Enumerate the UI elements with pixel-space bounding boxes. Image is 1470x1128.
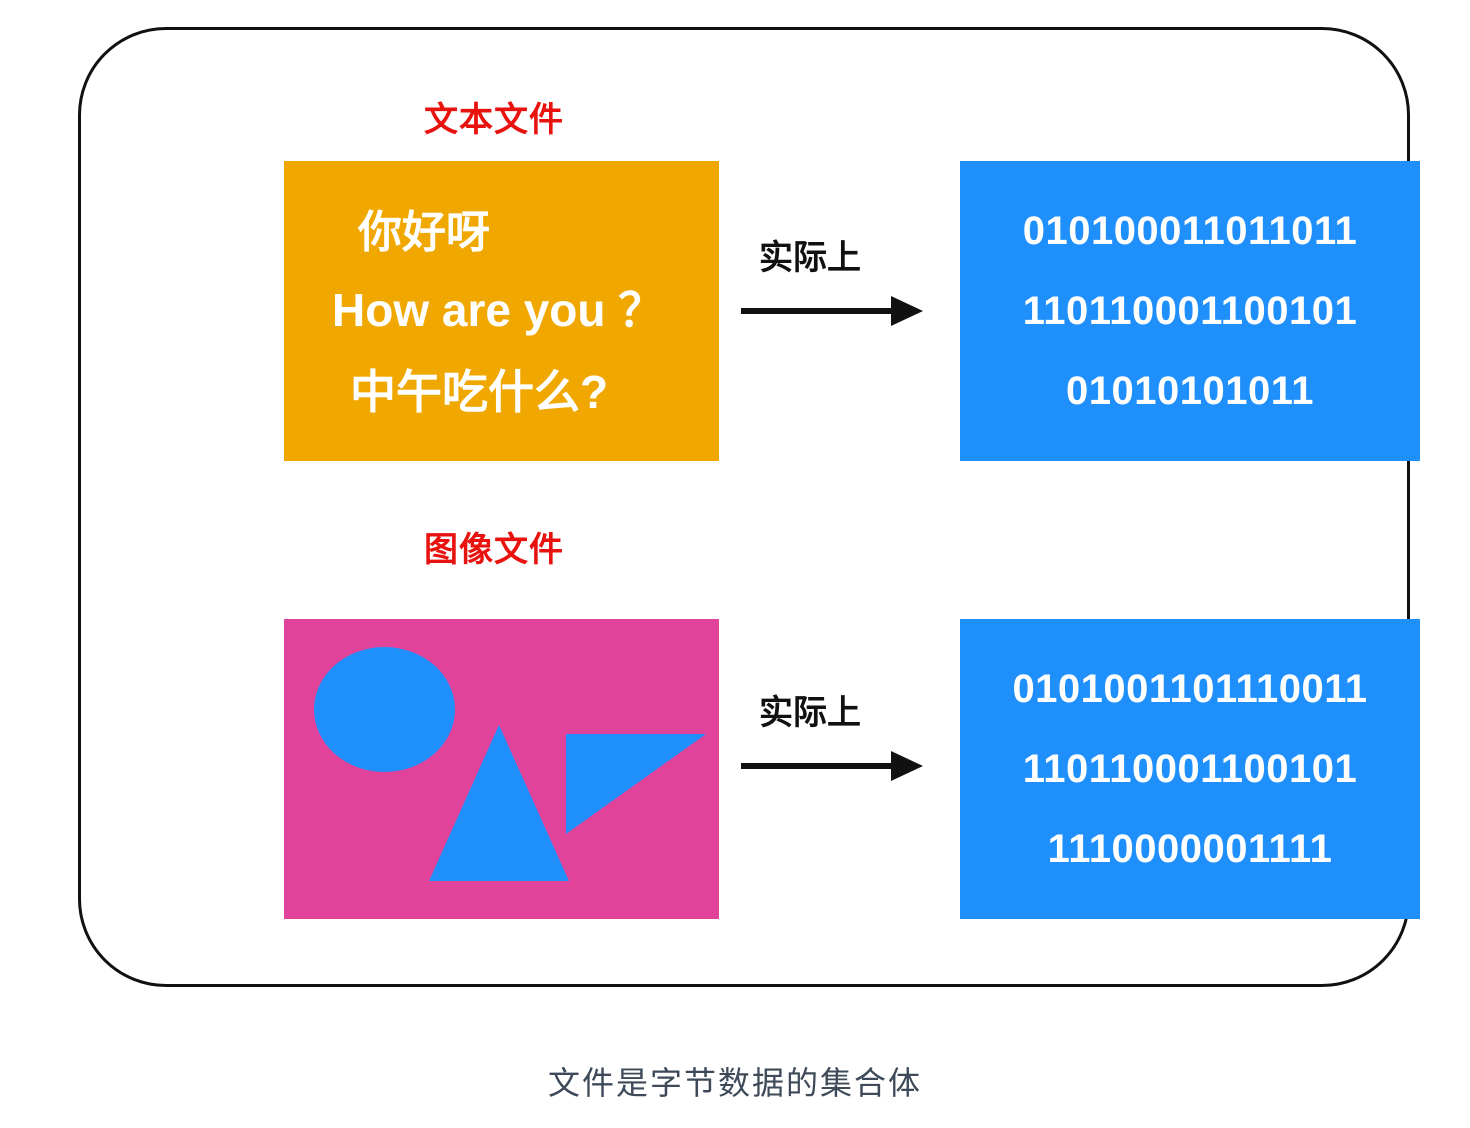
section-label-image-file: 图像文件	[424, 522, 564, 571]
triangle-right-shape-icon	[566, 734, 706, 834]
binary-box-image: 0101001101110011 110110001100101 1110000…	[960, 619, 1420, 919]
binary-image-line-2: 110110001100101	[1023, 749, 1358, 789]
binary-text-line-1: 010100011011011	[1023, 211, 1358, 251]
arrow-group-image: 实际上	[741, 685, 941, 795]
arrow-label-text: 实际上	[759, 230, 861, 279]
section-label-text-file: 文本文件	[424, 92, 564, 141]
text-file-box: 你好呀 How are you ？ 中午吃什么?	[284, 161, 719, 461]
arrow-head-icon	[891, 296, 923, 326]
binary-text-line-3: 01010101011	[1066, 371, 1314, 411]
arrow-head-icon	[891, 751, 923, 781]
text-file-line-2: How are you ？	[332, 274, 664, 340]
arrow-shaft-icon	[741, 308, 896, 314]
diagram-caption: 文件是字节数据的集合体	[0, 1058, 1470, 1104]
diagram-frame: 文本文件 你好呀 How are you ？ 中午吃什么? 实际上 010100…	[78, 27, 1410, 987]
image-file-box	[284, 619, 719, 919]
binary-text-line-2: 110110001100101	[1023, 291, 1358, 331]
binary-box-text: 010100011011011 110110001100101 01010101…	[960, 161, 1420, 461]
binary-image-line-3: 1110000001111	[1048, 829, 1333, 869]
text-file-line-1: 你好呀	[358, 196, 490, 260]
arrow-group-text: 实际上	[741, 230, 941, 340]
arrow-label-image: 实际上	[759, 685, 861, 734]
binary-image-line-1: 0101001101110011	[1012, 669, 1367, 709]
text-file-line-3: 中午吃什么?	[350, 356, 608, 422]
arrow-shaft-icon	[741, 763, 896, 769]
triangle-isoceles-shape-icon	[429, 725, 569, 881]
